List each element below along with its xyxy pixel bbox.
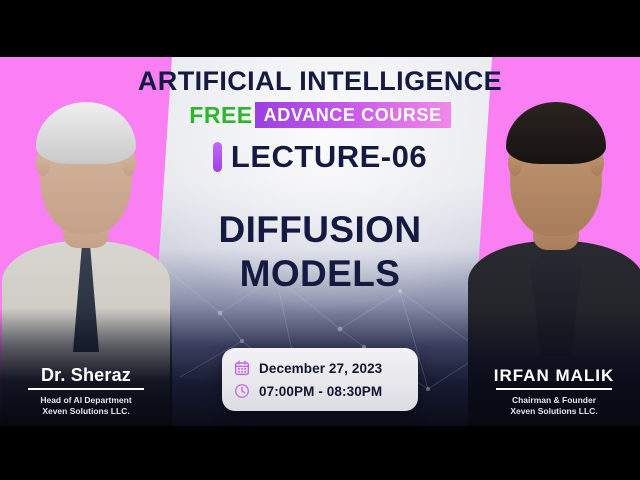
headline-block: ARTIFICIAL INTELLIGENCE FREE ADVANCE COU… — [0, 57, 640, 296]
event-date: December 27, 2023 — [259, 361, 382, 376]
course-title: ARTIFICIAL INTELLIGENCE — [0, 68, 640, 95]
topic-line-1: DIFFUSION — [0, 208, 640, 252]
speaker-nameplate-left: Dr. Sheraz Head of AI Department Xeven S… — [0, 308, 172, 426]
speaker-role-left: Head of AI Department — [40, 395, 131, 406]
speaker-role-right: Chairman & Founder — [512, 395, 596, 406]
course-subtitle-band: FREE ADVANCE COURSE — [189, 102, 450, 128]
schedule-card: December 27, 2023 07:00PM - 08:30PM — [222, 348, 418, 411]
schedule-date-row: December 27, 2023 — [234, 357, 406, 379]
calendar-icon — [234, 360, 250, 376]
speaker-company-left: Xeven Solutions LLC. — [42, 406, 129, 417]
schedule-time-row: 07:00PM - 08:30PM — [234, 380, 406, 402]
nameplate-divider-left — [28, 388, 144, 390]
speaker-nameplate-right: IRFAN MALIK Chairman & Founder Xeven Sol… — [468, 308, 640, 426]
event-time: 07:00PM - 08:30PM — [259, 384, 382, 399]
clock-icon — [234, 383, 250, 399]
speaker-name-left: Dr. Sheraz — [41, 366, 131, 384]
nameplate-divider-right — [496, 388, 612, 390]
speaker-name-right: IRFAN MALIK — [494, 367, 615, 384]
accent-bar-icon — [213, 142, 222, 172]
slide-stage: Dr. Sheraz Head of AI Department Xeven S… — [0, 57, 640, 426]
video-frame: Dr. Sheraz Head of AI Department Xeven S… — [0, 0, 640, 480]
lecture-number: LECTURE-06 — [231, 141, 427, 172]
topic-line-2: MODELS — [0, 252, 640, 296]
lecture-row: LECTURE-06 — [0, 141, 640, 172]
speaker-company-right: Xeven Solutions LLC. — [510, 406, 597, 417]
free-badge: FREE — [189, 102, 254, 128]
advance-course-badge: ADVANCE COURSE — [255, 102, 451, 128]
